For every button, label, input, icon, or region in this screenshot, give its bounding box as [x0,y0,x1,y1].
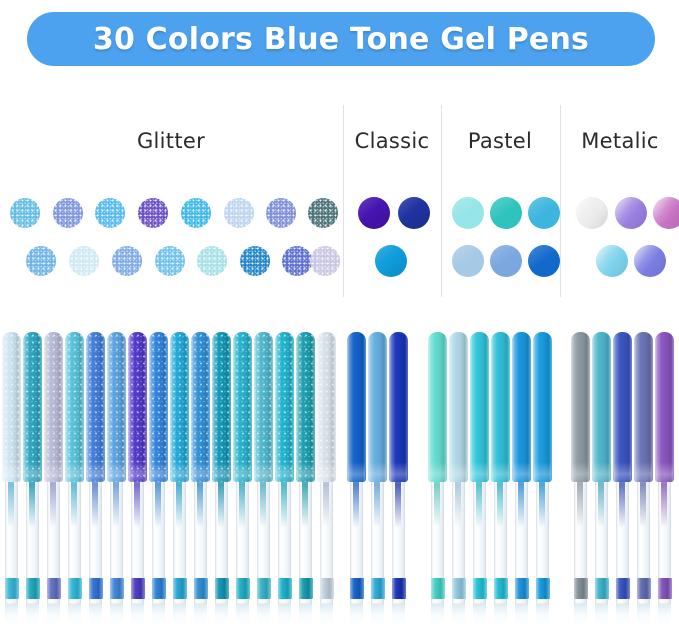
color-swatch-glitter-4 [138,198,168,228]
pen-grip-band [68,578,82,599]
pen-glitter-12 [233,332,252,604]
pen-glitter-3 [44,332,63,604]
pen-cap [65,332,84,482]
color-swatch-classic-3 [375,245,407,277]
pen-collar [656,462,673,484]
category-board: GlitterClassicPastelMetalic [0,95,679,300]
color-swatch-glitter-1 [26,246,56,276]
color-swatch-glitter-4 [155,246,185,276]
pen-metalic-3 [613,332,632,604]
color-swatch-pastel-3 [528,197,560,229]
pen-reflection [494,604,507,626]
pen-reflection [26,604,39,626]
pen-cap [233,332,252,482]
category-label-glitter: Glitter [101,129,241,153]
pen-grip-band [131,578,145,599]
pen-metalic-4 [634,332,653,604]
pen-reflection [110,604,123,626]
pen-grip-band [278,578,292,599]
pen-cap [191,332,210,482]
pen-grip-band [574,578,588,599]
pen-glitter-6 [107,332,126,604]
pen-reflection [536,604,549,626]
color-swatch-glitter-2 [53,198,83,228]
color-swatch-metalic-3 [653,197,679,229]
pen-collar [369,462,386,484]
pen-cap [275,332,294,482]
pen-reflection [595,604,608,626]
pen-grip-band [152,578,166,599]
pen-collar [471,462,488,484]
pen-cap [512,332,531,482]
pen-cap [613,332,632,482]
pen-glitter-2 [23,332,42,604]
pen-cap [44,332,63,482]
pen-collar [492,462,509,484]
color-swatch-glitter-8 [308,198,338,228]
pen-pastel-6 [533,332,552,604]
pen-collar [593,462,610,484]
pen-reflection [131,604,144,626]
pen-cap [128,332,147,482]
pen-cap [533,332,552,482]
color-swatch-glitter-7 [282,246,312,276]
pen-grip-band [452,578,466,599]
pen-reflection [89,604,102,626]
color-swatch-metalic-2 [615,197,647,229]
pen-cap [592,332,611,482]
pen-reflection [371,604,384,626]
pen-grip-band [110,578,124,599]
pen-grip-band [637,578,651,599]
color-swatch-glitter-7 [266,198,296,228]
pen-collar [513,462,530,484]
pen-metalic-2 [592,332,611,604]
pen-cap [634,332,653,482]
pen-cap [428,332,447,482]
pen-grip-band [392,578,406,599]
color-swatch-metalic-5 [634,245,666,277]
pen-grip-band [515,578,529,599]
category-label-metalic: Metalic [550,129,679,153]
color-swatch-glitter-1 [10,198,40,228]
color-swatch-pastel-6 [528,245,560,277]
pen-grip-band [194,578,208,599]
pen-grip-band [257,578,271,599]
pen-reflection [515,604,528,626]
pen-lineup [0,322,679,626]
color-swatch-pastel-4 [452,245,484,277]
pen-grip-band [236,578,250,599]
color-swatch-glitter-3 [112,246,142,276]
pen-reflection [658,604,671,626]
page-title: 30 Colors Blue Tone Gel Pens [93,22,589,57]
pen-cap [491,332,510,482]
pen-classic-3 [389,332,408,604]
pen-reflection [431,604,444,626]
pen-grip-band [616,578,630,599]
pen-grip-band [536,578,550,599]
pen-reflection [152,604,165,626]
color-swatch-classic-1 [358,197,390,229]
pen-cap [23,332,42,482]
pen-reflection [392,604,405,626]
color-swatch-glitter-6 [240,246,270,276]
pen-grip-band [173,578,187,599]
color-swatch-pastel-5 [490,245,522,277]
header-banner: 30 Colors Blue Tone Gel Pens [27,12,655,66]
pen-reflection [616,604,629,626]
pen-collar [390,462,407,484]
pen-reflection [236,604,249,626]
pen-reflection [637,604,650,626]
pen-grip-band [595,578,609,599]
pen-reflection [320,604,333,626]
pen-cap [212,332,231,482]
pen-grip-band [215,578,229,599]
pen-cap [449,332,468,482]
pen-grip-band [494,578,508,599]
pen-cap [2,332,21,482]
color-swatch-glitter-3 [95,198,125,228]
pen-cap [149,332,168,482]
pen-glitter-10 [191,332,210,604]
color-swatch-pastel-1 [452,197,484,229]
pen-collar [348,462,365,484]
pen-collar [450,462,467,484]
pen-reflection [173,604,186,626]
pen-reflection [68,604,81,626]
pen-grip-band [371,578,385,599]
pen-grip-band [26,578,40,599]
pen-collar [572,462,589,484]
pen-reflection [452,604,465,626]
pen-glitter-11 [212,332,231,604]
pen-reflection [350,604,363,626]
color-swatch-pastel-2 [490,197,522,229]
pen-cap [317,332,336,482]
pen-glitter-9 [170,332,189,604]
pen-glitter-8 [149,332,168,604]
pen-reflection [47,604,60,626]
pen-glitter-5 [86,332,105,604]
pen-cap [254,332,273,482]
pen-reflection [215,604,228,626]
color-swatch-metalic-1 [576,197,608,229]
pen-pastel-5 [512,332,531,604]
pen-pastel-1 [428,332,447,604]
pen-cap [470,332,489,482]
color-swatch-glitter-5 [181,198,211,228]
pen-grip-band [320,578,334,599]
pen-grip-band [299,578,313,599]
pen-grip-band [89,578,103,599]
pen-cap [107,332,126,482]
pen-pastel-2 [449,332,468,604]
color-swatch-metalic-4 [596,245,628,277]
pen-cap [347,332,366,482]
pen-grip-band [431,578,445,599]
color-swatch-classic-2 [398,197,430,229]
pen-cap [571,332,590,482]
pen-cap [389,332,408,482]
pen-cap [368,332,387,482]
pen-grip-band [5,578,19,599]
pen-grip-band [47,578,61,599]
pen-glitter-16 [317,332,336,604]
pen-cap [86,332,105,482]
pen-pastel-4 [491,332,510,604]
pen-metalic-1 [571,332,590,604]
pen-collar [635,462,652,484]
pen-glitter-15 [296,332,315,604]
pen-collar [614,462,631,484]
pen-reflection [194,604,207,626]
pen-grip-band [473,578,487,599]
pen-collar [429,462,446,484]
pen-reflection [299,604,312,626]
color-swatch-glitter-5 [197,246,227,276]
pen-cap [296,332,315,482]
pen-classic-2 [368,332,387,604]
pen-glitter-7 [128,332,147,604]
pen-pastel-3 [470,332,489,604]
pen-reflection [473,604,486,626]
pen-grip-band [350,578,364,599]
pen-glitter-1 [2,332,21,604]
pen-reflection [5,604,18,626]
pen-grip-band [658,578,672,599]
color-swatch-glitter-2 [69,246,99,276]
pen-cap [655,332,674,482]
color-swatch-glitter-6 [224,198,254,228]
pen-glitter-13 [254,332,273,604]
pen-glitter-14 [275,332,294,604]
pen-reflection [574,604,587,626]
pen-reflection [257,604,270,626]
pen-classic-1 [347,332,366,604]
pen-metalic-5 [655,332,674,604]
pen-reflection [278,604,291,626]
category-label-pastel: Pastel [430,129,570,153]
pen-collar [534,462,551,484]
color-swatch-glitter-8 [310,246,340,276]
pen-cap [170,332,189,482]
pen-glitter-4 [65,332,84,604]
